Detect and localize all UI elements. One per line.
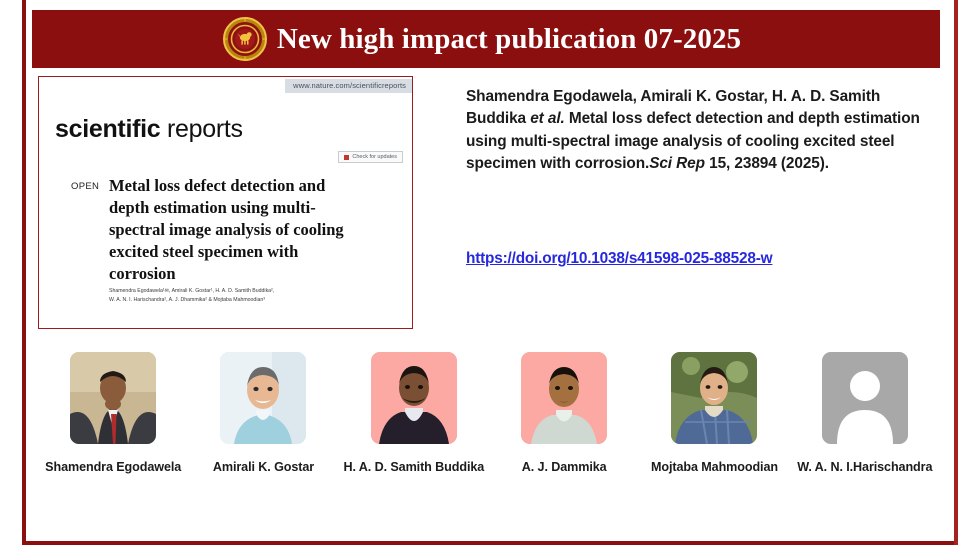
doi-link[interactable]: https://doi.org/10.1038/s41598-025-88528… xyxy=(466,250,772,268)
portrait-photo xyxy=(220,352,306,444)
citation-part-3: 15, 23894 (2025). xyxy=(705,155,829,172)
journal-logo: scientific reports xyxy=(55,115,243,144)
journal-url-label: www.nature.com/scientificreports xyxy=(285,79,412,93)
author-name: Amirali K. Gostar xyxy=(213,460,314,474)
author-photo-row: Shamendra Egodawela Amirali K. Gostar xyxy=(38,352,940,502)
author-name: Shamendra Egodawela xyxy=(45,460,181,474)
author-name: A. J. Dammika xyxy=(522,460,607,474)
author-name: H. A. D. Samith Buddika xyxy=(343,460,484,474)
check-for-updates-label: Check for updates xyxy=(352,154,397,160)
author-name: W. A. N. I.Harischandra xyxy=(797,460,932,474)
frame-border-bottom xyxy=(22,541,958,545)
header-banner: New high impact publication 07-2025 xyxy=(32,10,940,68)
portrait-photo xyxy=(371,352,457,444)
author-card: W. A. N. I.Harischandra xyxy=(790,352,940,502)
avatar-placeholder-icon xyxy=(822,352,908,444)
author-card: H. A. D. Samith Buddika xyxy=(339,352,489,502)
frame-border-right xyxy=(954,0,958,545)
page-title: New high impact publication 07-2025 xyxy=(277,23,741,56)
university-crest-icon xyxy=(223,17,267,61)
paper-author-list: Shamendra Egodawela¹✉, Amirali K. Gostar… xyxy=(109,287,399,305)
journal-logo-light: reports xyxy=(160,115,242,143)
frame-border-left xyxy=(22,0,26,545)
paper-author-line-1: Shamendra Egodawela¹✉, Amirali K. Gostar… xyxy=(109,287,399,296)
open-access-label: OPEN xyxy=(71,181,99,192)
author-card: Shamendra Egodawela xyxy=(38,352,188,502)
publication-announcement-poster: New high impact publication 07-2025 www.… xyxy=(0,0,970,560)
author-name: Mojtaba Mahmoodian xyxy=(651,460,778,474)
portrait-photo xyxy=(521,352,607,444)
author-card: A. J. Dammika xyxy=(489,352,639,502)
citation-et-al: et al. xyxy=(530,110,564,127)
journal-logo-bold: scientific xyxy=(55,115,160,143)
portrait-photo xyxy=(671,352,757,444)
paper-title: Metal loss defect detection and depth es… xyxy=(109,175,364,285)
check-for-updates-badge[interactable]: Check for updates xyxy=(338,151,403,163)
author-card: Mojtaba Mahmoodian xyxy=(639,352,789,502)
paper-cover-thumbnail[interactable]: www.nature.com/scientificreports scienti… xyxy=(38,76,413,329)
crossmark-icon xyxy=(344,155,349,160)
citation-text: Shamendra Egodawela, Amirali K. Gostar, … xyxy=(466,86,928,176)
author-card: Amirali K. Gostar xyxy=(188,352,338,502)
paper-author-line-2: W. A. N. I. Harischandra², A. J. Dhammik… xyxy=(109,296,399,305)
portrait-photo xyxy=(70,352,156,444)
citation-journal-name: Sci Rep xyxy=(649,155,705,172)
